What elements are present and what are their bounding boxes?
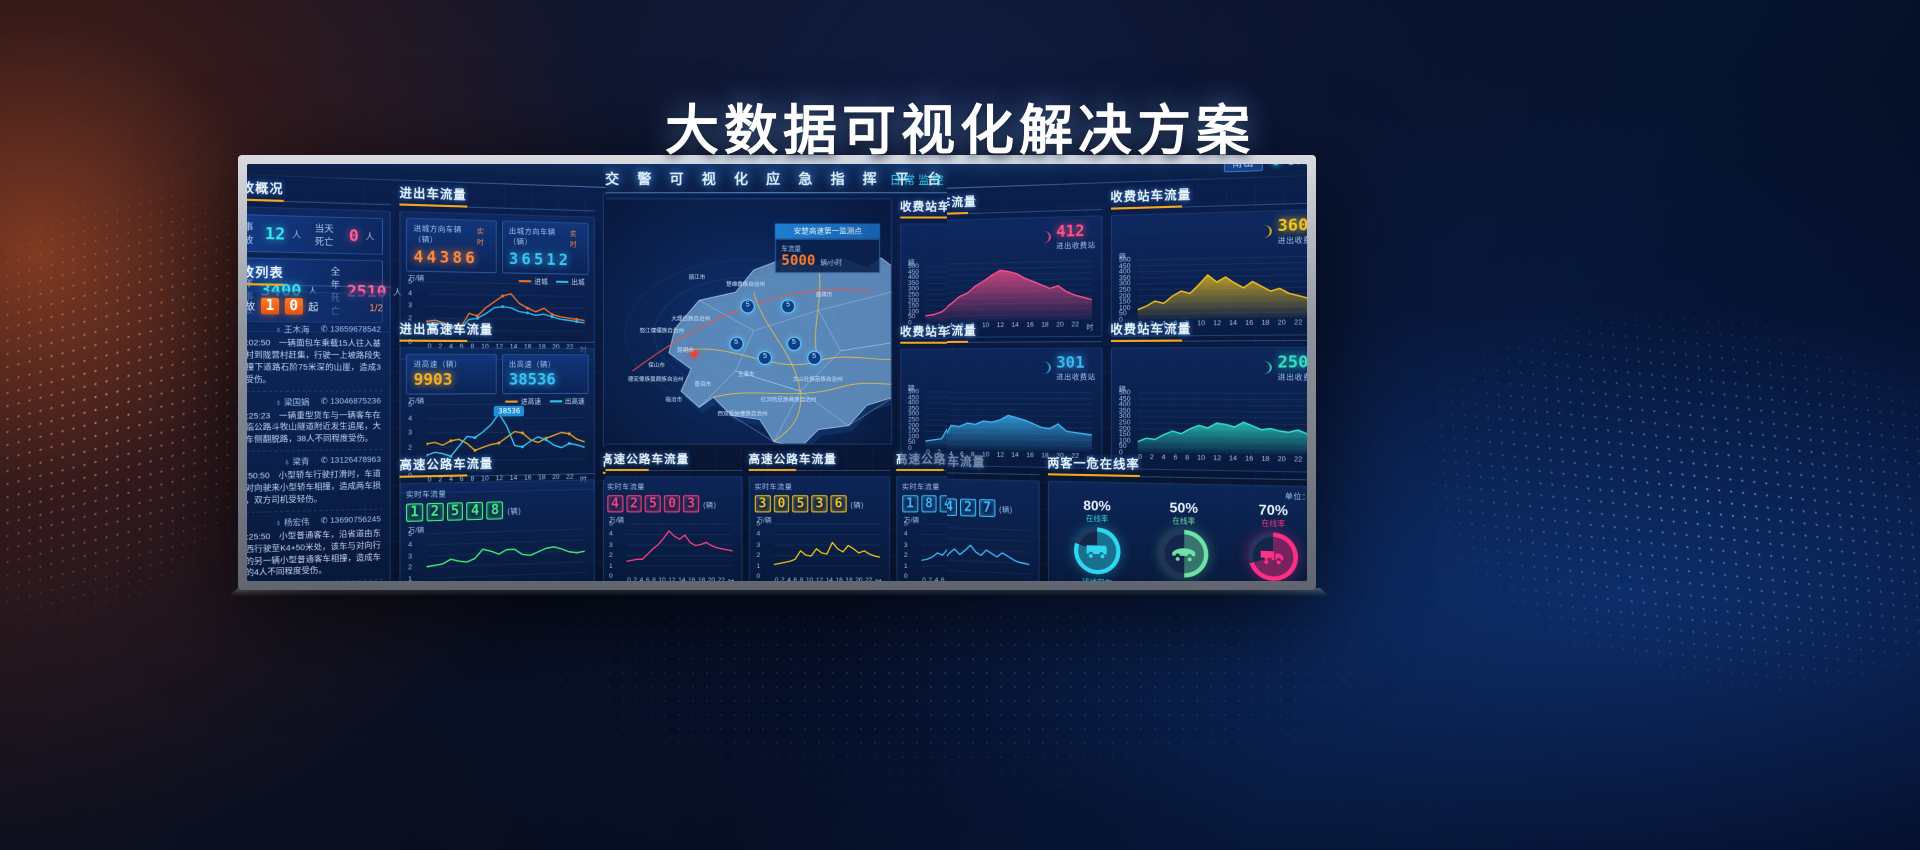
accident-pager[interactable]: 1/2: [369, 302, 383, 313]
map-city-label: 玉溪市: [738, 370, 755, 378]
legend-entry: 进高速: [505, 395, 541, 406]
vehicle-type-label: 旅游客车: [1144, 579, 1223, 581]
toll-value: 250: [1277, 352, 1307, 372]
chart-y-tick: 5: [408, 401, 412, 409]
chart-plot: [774, 523, 880, 576]
segment-unit: (辆): [507, 506, 521, 517]
online-rate-item: 80%在线率班线客车50000: [1059, 497, 1135, 581]
accident-description: 12:25:50 小型普通客车，沿省道由东向西行驶至K4+50米处，该车与对向行…: [247, 528, 381, 580]
legend-entry: 出高速: [549, 395, 584, 406]
list-item: ♁ 杨宏伟✆ 1369075624512:25:50 小型普通客车，沿省道由东向…: [247, 509, 383, 581]
chart: 万/辆5432100246810121416182022时: [755, 514, 884, 581]
map-city-label: 临沧市: [666, 395, 683, 403]
toll-value-group: 250进出收费站: [1277, 352, 1307, 383]
wall-slab-right: 交 警 可 视 化 应 急 指 挥 平 台日常监控南山2018-0事故概况事故1…: [947, 164, 1307, 581]
toll-sub-label: 进出收费站: [1277, 372, 1307, 383]
map-city-label: 西双版纳傣族自治州: [718, 409, 768, 417]
chart-x-tick: 4: [935, 577, 939, 581]
panel-title-toll-station-1: 收费站车流量: [947, 189, 1102, 216]
accident-description: 11:50:50 小型轿车行驶打滑时，车道与对向驶来小型轿车相撞，造成两车损坏，…: [247, 469, 381, 508]
accident-reporter: ♁ 杨宏伟: [275, 516, 309, 529]
legend-swatch: [556, 281, 568, 283]
panel-body-toll-station-1: 412进出收费站辆5004504003503002502001501005000…: [947, 215, 1102, 338]
panel-title-highway-flow-2: 高速公路车流量: [606, 451, 743, 471]
chart-x-tick: 18: [846, 577, 853, 581]
panel-highway-flow-3: 高速公路车流量实时车流量30536(辆)万/辆54321002468101214…: [749, 451, 890, 581]
panel-title-accident-overview: 事故概况: [247, 178, 391, 205]
chart-y-tick: 2: [757, 552, 761, 559]
chart-legend: 进高速出高速: [505, 395, 584, 406]
chart-y-tick: 1: [904, 562, 908, 569]
chart-plot: [627, 523, 733, 576]
accident-meta: ♁ 王木海✆ 13659678542: [247, 323, 381, 336]
stat-unit-right: 人: [365, 230, 374, 242]
map-popup-value-row: 5000辆/小时: [782, 253, 875, 269]
segment-row: 42503(辆): [607, 492, 736, 514]
chart-x-tick: 14: [679, 577, 686, 581]
toll-value: 301: [1056, 353, 1095, 372]
kpi-digits: 44386: [414, 247, 489, 268]
segment-unit: (辆): [703, 500, 716, 510]
toll-value-group: 412进出收费站: [1056, 221, 1095, 252]
list-item: ♁ 梁青✆ 1312647896311:50:50 小型轿车行驶打滑时，车道与对…: [247, 450, 383, 513]
map-pin[interactable]: 5: [787, 336, 801, 350]
accident-meta: ♁ 杨宏伟✆ 13690756245: [247, 514, 381, 530]
map-city-label: 普洱市: [695, 380, 712, 388]
signal-wave-icon: [1254, 225, 1272, 239]
header-underline: [606, 192, 959, 193]
accident-stat-row: 事故12人当天死亡0人: [247, 214, 383, 255]
panel-map: 555555丽江市楚雄彝族自治州昭通市大理白族自治州怒江傈僳族自治州曲靖市昆明市…: [606, 198, 893, 444]
kpi-tag: 实时: [570, 228, 582, 249]
toll-kpi-row: 301进出收费站: [947, 353, 1096, 383]
segment-digits: 18427: [947, 497, 995, 517]
legend-swatch: [549, 401, 561, 403]
chart-x-tick: 0: [775, 577, 779, 581]
accident-count-label: 事故: [247, 298, 255, 313]
kpi-label: 实时车流量: [755, 482, 884, 492]
segment-digit: 6: [831, 495, 847, 512]
accident-count-unit: 起: [308, 299, 318, 313]
map-frame: 555555丽江市楚雄彝族自治州昭通市大理白族自治州怒江傈僳族自治州曲靖市昆明市…: [606, 198, 893, 444]
online-rate-percent-label: 在线率: [1059, 513, 1135, 526]
accident-count-digit: 0: [285, 298, 303, 315]
chart-x-tick: 16: [836, 577, 843, 581]
chart-x-tick: 10: [806, 577, 813, 581]
segment-digit: 4: [947, 498, 957, 516]
online-rate-unit-note: 单位：辆: [1285, 491, 1307, 503]
kpi-label: 实时车流量: [607, 482, 736, 492]
chart: 万/辆5432100246810121416182022时: [607, 514, 736, 581]
segment-digits: 30536: [755, 495, 847, 512]
highway-kpi-row: 进高速（辆）9903出高速（辆）38536: [406, 354, 589, 395]
segment-digit: 5: [447, 502, 464, 521]
dashboard-canvas-right: 交 警 可 视 化 应 急 指 挥 平 台日常监控南山2018-0事故概况事故1…: [947, 164, 1307, 581]
segment-row: 30536(辆): [755, 492, 884, 514]
panel-title-online-rate: 两客一危在线率: [1047, 454, 1307, 481]
chart-y-tick: 3: [757, 541, 761, 548]
kpi-label: 进城方向车辆（辆）: [414, 223, 477, 246]
chart-y-tick: 2: [408, 564, 412, 572]
chart-x-tick: 8: [653, 577, 657, 581]
segment-digit: 3: [755, 495, 771, 512]
panel-body-online-rate: 单位：辆80%在线率班线客车5000050%在线率旅游客车600070%在线率危…: [1047, 481, 1307, 581]
chart-x-unit: 时: [728, 577, 735, 581]
map-city-label: 文山壮族苗族自治州: [793, 375, 843, 383]
chart-y-tick: 5: [904, 520, 908, 527]
legend-entry: 出城: [556, 275, 585, 286]
chart-x-tick: 18: [698, 577, 705, 581]
panel-body-accident-list: 事故10起1/2♁ 王木海✆ 1365967854215:02:50 一辆面包车…: [247, 291, 391, 581]
panel-highway-flow-1: 高速公路车流量实时车流量12548(辆)万/辆54321002468101214…: [399, 453, 594, 581]
chart-x-tick: 22: [718, 577, 725, 581]
map-city-label: 大理白族自治州: [672, 314, 711, 322]
accident-reporter: ♁ 梁国娟: [275, 396, 309, 408]
accident-description: 15:02:50 一辆面包车乘载15人往入基鲁村到陇营村赶集，行驶一上坡路段失控…: [247, 337, 381, 385]
kpi-box: 出高速（辆）38536: [502, 354, 589, 394]
video-wall-screen: 交 警 可 视 化 应 急 指 挥 平 台日常监控南山2018-0事故概况事故1…: [247, 164, 1307, 581]
kpi-box: 进城方向车辆（辆）实时44386: [406, 218, 496, 274]
kpi-digit: 4: [414, 247, 424, 267]
progress-ring: [1248, 532, 1298, 581]
chart-x-tick: 6: [941, 577, 945, 581]
accident-meta: ♁ 梁国娟✆ 13046875236: [247, 395, 381, 408]
accident-count-row: 事故10起1/2: [247, 297, 383, 315]
segment-row: 18427(辆): [947, 494, 1033, 520]
chart-plot: [947, 260, 1091, 321]
panel-title-highway-flow-3: 高速公路车流量: [749, 451, 890, 471]
chart-y-tick: 5: [609, 520, 613, 527]
chart-y-tick: 4: [408, 290, 412, 298]
list-item: ♁ 王木海✆ 1365967854215:02:50 一辆面包车乘载15人往入基…: [247, 319, 383, 392]
chart-y-tick: 3: [609, 541, 613, 548]
chart-x-tick: 12: [669, 577, 676, 581]
progress-ring-inner: [1078, 531, 1116, 571]
map-city-label: 红河哈尼族彝族自治州: [761, 395, 817, 403]
kpi-head: 进城方向车辆（辆）实时: [414, 223, 489, 246]
online-rate-item: 50%在线率旅游客车6000: [1144, 499, 1223, 581]
segment-digit: 0: [664, 495, 680, 512]
map-city-label: 楚雄彝族自治州: [727, 280, 766, 288]
segment-digit: 2: [626, 495, 642, 512]
accident-reporter: ♁ 王木海: [275, 323, 309, 335]
map-city-label: 曲靖市: [816, 290, 833, 298]
chart-y-tick: 0: [904, 573, 908, 580]
chart-plot: [427, 529, 585, 581]
accident-phone: ✆ 13046875236: [321, 395, 381, 407]
chart-plot: [1137, 256, 1307, 320]
signal-wave-icon: [1034, 231, 1051, 244]
toll-kpi-row: 360进出收费站: [1116, 214, 1307, 250]
chart-x-tick: 6: [794, 577, 798, 581]
chart-y-tick: 3: [904, 541, 908, 548]
map-popup: 安楚高速第一监测点车流量5000辆/小时: [776, 224, 881, 273]
chart-x-tick: 16: [1026, 452, 1033, 463]
chart-legend: 进城出城: [519, 275, 585, 287]
online-rate-row: 80%在线率班线客车5000050%在线率旅游客车600070%在线率危险品车5…: [1054, 497, 1307, 581]
chart-x-tick: 14: [826, 577, 833, 581]
chart-y-tick: 2: [408, 444, 412, 452]
map-city-label: 德宏傣族景颇族自治州: [628, 375, 684, 383]
chart-y-tick: 5: [757, 520, 761, 527]
panel-body-toll-station-2: 360进出收费站辆5004504003503002502001501005000…: [1110, 209, 1307, 337]
chart-x-tick: 20: [856, 577, 863, 581]
map-city-label: 怒江傈僳族自治州: [640, 326, 684, 334]
page-title-text: 大数据可视化解决方案: [665, 86, 1255, 165]
panel-highway-flow-2: 高速公路车流量实时车流量42503(辆)万/辆54321002468101214…: [606, 451, 743, 581]
segment-digit: 5: [645, 495, 661, 512]
kpi-value: 9903: [414, 370, 489, 389]
chart-plot: [947, 527, 1029, 581]
chart-x-tick: 0: [922, 577, 926, 581]
chart-y-tick: 4: [757, 531, 761, 538]
progress-ring-inner: [1164, 534, 1203, 574]
chart-x-tick: 4: [949, 451, 953, 461]
dashboard-canvas-center: 交 警 可 视 化 应 急 指 挥 平 台日常监控南山2018-0事故概况事故1…: [606, 164, 959, 581]
stat-value-left: 12: [265, 224, 286, 244]
kpi-label: 进高速（辆）: [414, 359, 489, 370]
accident-phone: ✆ 13126478963: [321, 454, 381, 467]
location-chip[interactable]: 南山: [1224, 164, 1262, 172]
progress-ring: [1159, 529, 1207, 578]
chart-x-tick: 16: [688, 577, 695, 581]
progress-ring-inner: [1253, 536, 1294, 577]
panel-title-toll-station-4: 收费站车流量: [1110, 319, 1307, 342]
segment-digit: 2: [426, 503, 443, 522]
panel-toll-station-1: 收费站车流量412进出收费站辆5004504003503002502001501…: [947, 189, 1102, 338]
map-popup-value: 5000: [782, 253, 816, 269]
signal-wave-icon: [1034, 361, 1051, 374]
segment-digit: 4: [607, 495, 623, 512]
wall-slab-left: 交 警 可 视 化 应 急 指 挥 平 台日常监控南山2018-0事故概况事故1…: [247, 164, 629, 581]
panel-accident-list: 事故列表事故10起1/2♁ 王木海✆ 1365967854215:02:50 一…: [247, 263, 391, 581]
chart-y-tick: 5: [408, 530, 412, 538]
chart-x-tick: 6: [646, 577, 650, 581]
chart-y-tick: 4: [904, 531, 908, 538]
toll-sub-label: 进出收费站: [1277, 234, 1307, 246]
chart-x-tick: 4: [640, 577, 644, 581]
panel-toll-station-3: 收费站车流量301进出收费站辆5004504003503002502001501…: [947, 321, 1102, 469]
map-city-label: 昆明市: [677, 346, 694, 354]
chart-x-tick: 14: [1011, 452, 1018, 463]
panel-body-highway-flow-4: 实时车流量18427(辆)万/辆543210024681012141618202…: [947, 478, 1039, 581]
chart-plot: [1137, 392, 1307, 455]
panel-highway-flow-4: 高速公路车流量实时车流量18427(辆)万/辆54321002468101214…: [947, 452, 1039, 581]
stat-unit-left: 人: [292, 228, 301, 240]
panel-body-highway-flow-2: 实时车流量42503(辆)万/辆543210024681012141618202…: [606, 476, 743, 581]
tab-daily-monitor[interactable]: 日常监控: [890, 172, 947, 188]
kpi-digit: 6: [465, 248, 475, 267]
panel-body-highway-flow-1: 实时车流量12548(辆)万/辆543210024681012141618202…: [399, 479, 594, 581]
particle-field-bottom: [420, 610, 1520, 850]
chart-x-tick: 4: [788, 577, 792, 581]
panel-toll-station-4: 收费站车流量250进出收费站辆5004504003503002502001501…: [1110, 319, 1307, 473]
chart-x-tick: 8: [800, 577, 804, 581]
panel-title-toll-station-3: 收费站车流量: [947, 321, 1102, 343]
toll-value: 412: [1056, 221, 1095, 241]
segment-digit: 5: [793, 495, 809, 512]
chart-y-tick: 3: [408, 430, 412, 438]
map-popup-body: 车流量5000辆/小时: [776, 239, 881, 273]
online-rate-item: 70%在线率危险品车5000: [1233, 501, 1307, 581]
kpi-digit: 1: [546, 250, 555, 269]
kpi-box: 进高速（辆）9903: [406, 354, 496, 395]
segment-digit: 2: [960, 499, 976, 517]
map-popup-unit: 辆/小时: [821, 257, 843, 267]
chart-x-axis: 0246810121416182022时: [628, 577, 735, 581]
particle-field-right: [1303, 223, 1920, 816]
segment-digit: 4: [467, 502, 484, 521]
stat-label-left: 事故: [247, 220, 258, 247]
dashboard-canvas-left: 交 警 可 视 化 应 急 指 挥 平 台日常监控南山2018-0事故概况事故1…: [247, 164, 629, 581]
progress-ring: [1073, 527, 1120, 575]
legend-entry: 进城: [519, 275, 548, 286]
chart-x-tick: 0: [628, 577, 632, 581]
chart-y-tick: 1: [609, 562, 613, 569]
segment-digit: 8: [921, 495, 937, 512]
kpi-digit: 2: [559, 250, 568, 269]
accident-count-digit: 1: [261, 298, 279, 315]
panel-title-highway-inout: 进出高速车流量: [399, 320, 594, 343]
chart: 辆500450400350300250200150100500024681012…: [947, 382, 1096, 463]
map-panel: 555555丽江市楚雄彝族自治州昭通市大理白族自治州怒江傈僳族自治州曲靖市昆明市…: [606, 199, 892, 443]
chart: 辆500450400350300250200150100500024681012…: [1116, 383, 1307, 468]
map-city-label: 保山市: [649, 361, 666, 369]
accident-description: 14:25:23 一辆重型货车与一辆客车在祥临公路斗牧山隧道附近发生追尾，大巴车…: [247, 409, 381, 446]
kpi-label: 出高速（辆）: [509, 359, 582, 370]
kpi-digit: 5: [534, 250, 543, 269]
video-wall: 交 警 可 视 化 应 急 指 挥 平 台日常监控南山2018-0事故概况事故1…: [238, 155, 1316, 590]
accident-phone: ✆ 13690756245: [321, 514, 381, 528]
kpi-digit: 3: [440, 248, 450, 267]
legend-swatch: [519, 280, 531, 282]
toll-kpi-row: 250进出收费站: [1116, 352, 1307, 383]
tab-daily-monitor[interactable]: 日常监控: [947, 167, 948, 186]
kpi-tag: 实时: [477, 225, 489, 247]
map-popup-title: 安楚高速第一监测点: [776, 224, 881, 239]
segment-digit: 3: [683, 495, 699, 512]
online-rate-percent-label: 在线率: [1144, 515, 1223, 528]
chart: 万/辆5432100246810121416182022时: [947, 517, 1033, 581]
chart-y-tick: 3: [408, 553, 412, 561]
panel-body-toll-station-3: 301进出收费站辆5004504003503002502001501005000…: [947, 347, 1102, 468]
segment-digit: 7: [979, 499, 995, 517]
chart-y-tick: 3: [408, 302, 412, 310]
toll-value-group: 301进出收费站: [1056, 353, 1095, 383]
chart-y-tick: 2: [904, 552, 908, 559]
chart-x-unit: 时: [875, 577, 882, 581]
accident-reporter: ♁ 梁青: [284, 456, 310, 469]
kpi-digit: 6: [521, 249, 530, 268]
dashboard-header: 交 警 可 视 化 应 急 指 挥 平 台日常监控南山2018-0: [606, 164, 959, 196]
segment-digit: 3: [812, 495, 828, 512]
chart-x-tick: 8: [971, 451, 975, 461]
panel-toll-station-2: 收费站车流量360进出收费站辆5004504003503002502001501…: [1110, 181, 1307, 337]
legend-swatch: [505, 401, 518, 403]
chart-x-axis: 0246810121416182022时: [775, 577, 882, 581]
segment-digits: 42503: [607, 495, 699, 512]
kpi-box: 出城方向车辆（辆）实时36512: [502, 220, 589, 275]
accident-meta: ♁ 梁青✆ 13126478963: [247, 454, 381, 468]
kpi-digit: 4: [427, 247, 437, 267]
chart-x-tick: 10: [982, 451, 989, 462]
chart-x-tick: 12: [996, 451, 1003, 462]
chart-plot: [947, 392, 1091, 452]
page-title: 大数据可视化解决方案: [0, 86, 1920, 165]
online-rate-percent-label: 在线率: [1233, 517, 1307, 530]
map-city-label: 丽江市: [689, 273, 706, 281]
chart-y-tick: 4: [408, 415, 412, 423]
panel-title-toll-station-2: 收费站车流量: [1110, 181, 1307, 210]
slide-stage: 大数据可视化解决方案 交 警 可 视 化 应 急 指 挥 平 台日常监控南山20…: [0, 0, 1920, 850]
accident-phone: ✆ 13659678542: [321, 324, 381, 336]
chart-y-tick: 0: [757, 573, 761, 580]
kpi-digit: 8: [452, 248, 462, 267]
list-item: ♁ 梁国娟✆ 1304687523614:25:23 一辆重型货车与一辆客车在祥…: [247, 391, 383, 452]
chart-x-tick: 10: [659, 577, 666, 581]
panel-body-highway-flow-3: 实时车流量30536(辆)万/辆543210024681012141618202…: [749, 476, 890, 581]
toll-value-group: 360进出收费站: [1277, 214, 1307, 246]
segment-digit: 8: [487, 501, 504, 519]
chart-x-tick: 12: [816, 577, 823, 581]
segment-digit: 0: [774, 495, 790, 512]
stat-label-right: 当天死亡: [315, 222, 342, 249]
chart-y-tick: 0: [609, 573, 613, 580]
segment-digit: 1: [902, 495, 918, 512]
chart-x-tick: 2: [937, 449, 941, 459]
kpi-digits: 36512: [509, 249, 582, 269]
kpi-value: 38536: [509, 370, 582, 389]
chart-y-tick: 1: [408, 575, 412, 581]
vehicle-type-label: 班线客车: [1059, 576, 1135, 581]
chart-y-tick: 5: [408, 278, 412, 286]
chart-x-tick: 0: [927, 449, 931, 459]
panel-title-accident-list: 事故列表: [247, 263, 391, 288]
chart-x-tick: 2: [929, 577, 933, 581]
inout-kpi-row: 进城方向车辆（辆）实时44386出城方向车辆（辆）实时36512: [406, 218, 589, 275]
signal-wave-icon: [1254, 361, 1272, 374]
toll-kpi-row: 412进出收费站: [947, 221, 1096, 255]
kpi-head: 出城方向车辆（辆）实时: [509, 226, 582, 249]
kpi-digit: 3: [509, 249, 518, 268]
chart-x-tick: 22: [865, 577, 872, 581]
chart-y-tick: 2: [609, 552, 613, 559]
segment-digit: 1: [406, 503, 423, 522]
wall-slab-center: 交 警 可 视 化 应 急 指 挥 平 台日常监控南山2018-0事故概况事故1…: [606, 164, 959, 581]
map-pin[interactable]: 5: [729, 336, 743, 350]
segment-digits: 12548: [406, 501, 503, 522]
chart-y-tick: 4: [609, 531, 613, 538]
kpi-label: 出城方向车辆（辆）: [509, 226, 570, 249]
chart-y-tick: 0: [908, 445, 912, 452]
segment-unit: (辆): [999, 505, 1012, 516]
chart-y-tick: 1: [757, 562, 761, 569]
stat-value-right: 0: [349, 226, 359, 246]
map-popup-label: 车流量: [782, 243, 875, 253]
chart-x-tick: 2: [634, 577, 638, 581]
chart-x-tick: 6: [960, 451, 964, 461]
panel-body-toll-station-4: 250进出收费站辆5004504003503002502001501005000…: [1110, 346, 1307, 473]
chart-tooltip: 38536: [494, 406, 524, 417]
toll-value: 360: [1277, 214, 1307, 235]
chart-x-tick: 2: [781, 577, 785, 581]
chart: 万/辆5432100246810121416182022时: [406, 519, 589, 581]
chart-x-tick: 20: [708, 577, 715, 581]
panel-online-rate: 两客一危在线率单位：辆80%在线率班线客车5000050%在线率旅游客车6000…: [1047, 454, 1307, 581]
toll-sub-label: 进出收费站: [1056, 372, 1095, 383]
chart-y-tick: 4: [408, 542, 412, 550]
segment-unit: (辆): [851, 500, 864, 510]
